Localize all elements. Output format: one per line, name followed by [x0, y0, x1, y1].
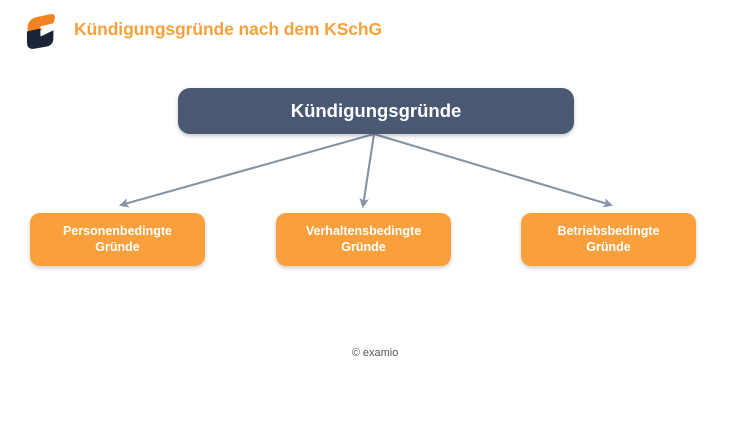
node-verhaltensbedingte-gruende[interactable]: Verhaltensbedingte Gründe	[276, 213, 451, 266]
slide-canvas: Kündigungsgründe nach dem KSchG Kündigun…	[0, 0, 750, 422]
node-leaf-label: Personenbedingte Gründe	[63, 224, 172, 255]
footer-copyright: © examio	[0, 347, 750, 359]
connector-arrow-middle	[363, 134, 374, 206]
connector-arrow-left	[121, 134, 374, 205]
brand-header: Kündigungsgründe nach dem KSchG	[20, 10, 382, 50]
node-personenbedingte-gruende[interactable]: Personenbedingte Gründe	[30, 213, 205, 266]
examio-envelope-logo-icon	[20, 10, 60, 50]
node-leaf-label: Betriebsbedingte Gründe	[557, 224, 659, 255]
node-betriebsbedingte-gruende[interactable]: Betriebsbedingte Gründe	[521, 213, 696, 266]
node-root-label: Kündigungsgründe	[291, 99, 462, 122]
node-root-kuendigungsgruende[interactable]: Kündigungsgründe	[178, 88, 574, 134]
page-title: Kündigungsgründe nach dem KSchG	[74, 21, 382, 39]
connector-arrow-right	[374, 134, 611, 205]
node-leaf-label: Verhaltensbedingte Gründe	[306, 224, 421, 255]
